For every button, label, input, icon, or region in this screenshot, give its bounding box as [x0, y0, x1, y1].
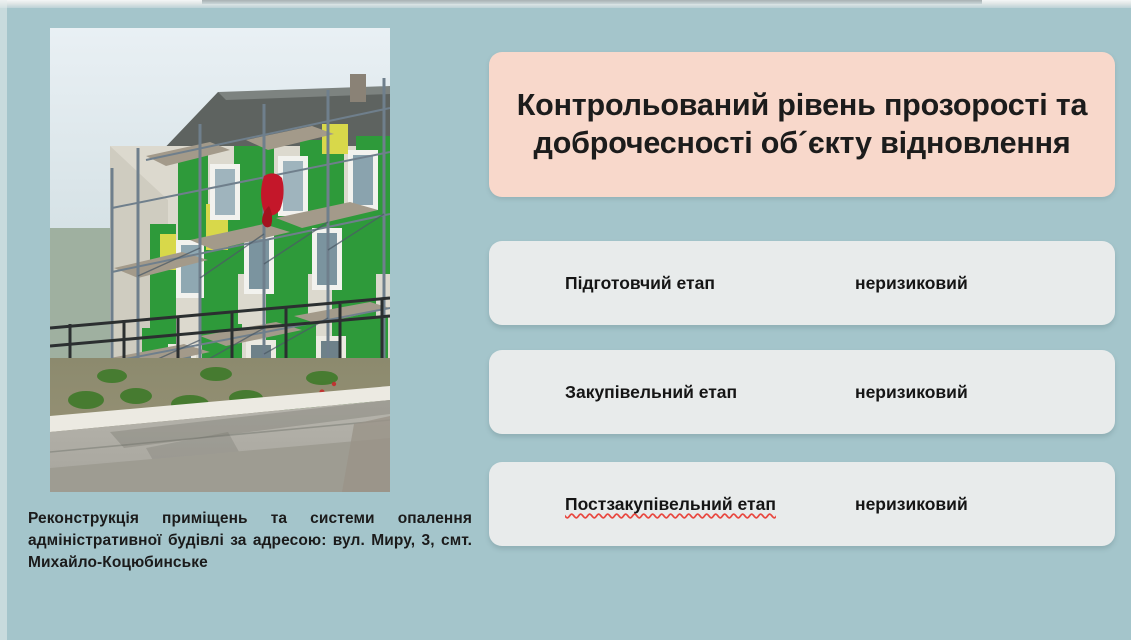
- building-photo-illustration: [50, 28, 390, 492]
- left-edge-strip: [0, 0, 7, 640]
- stage-name-label: Закупівельний етап: [565, 382, 737, 403]
- stage-name-label: Підготовчий етап: [565, 273, 715, 294]
- stage-status-badge: неризиковий: [855, 382, 968, 403]
- stage-status-badge: неризиковий: [855, 273, 968, 294]
- stage-row[interactable]: Постзакупівельний етап неризиковий: [489, 462, 1115, 546]
- slide-canvas: Реконструкція приміщень та системи опале…: [0, 0, 1131, 640]
- title-card: Контрольований рівень прозорості та добр…: [489, 52, 1115, 197]
- stage-row[interactable]: Підготовчий етап неризиковий: [489, 241, 1115, 325]
- stage-row[interactable]: Закупівельний етап неризиковий: [489, 350, 1115, 434]
- top-edge-accent: [202, 0, 982, 4]
- page-title: Контрольований рівень прозорості та добр…: [489, 87, 1115, 163]
- photo-caption: Реконструкція приміщень та системи опале…: [28, 508, 472, 596]
- stage-name-label: Постзакупівельний етап: [565, 494, 776, 515]
- stage-status-badge: неризиковий: [855, 494, 968, 515]
- building-photo: [50, 28, 390, 492]
- photo-block: [50, 28, 390, 492]
